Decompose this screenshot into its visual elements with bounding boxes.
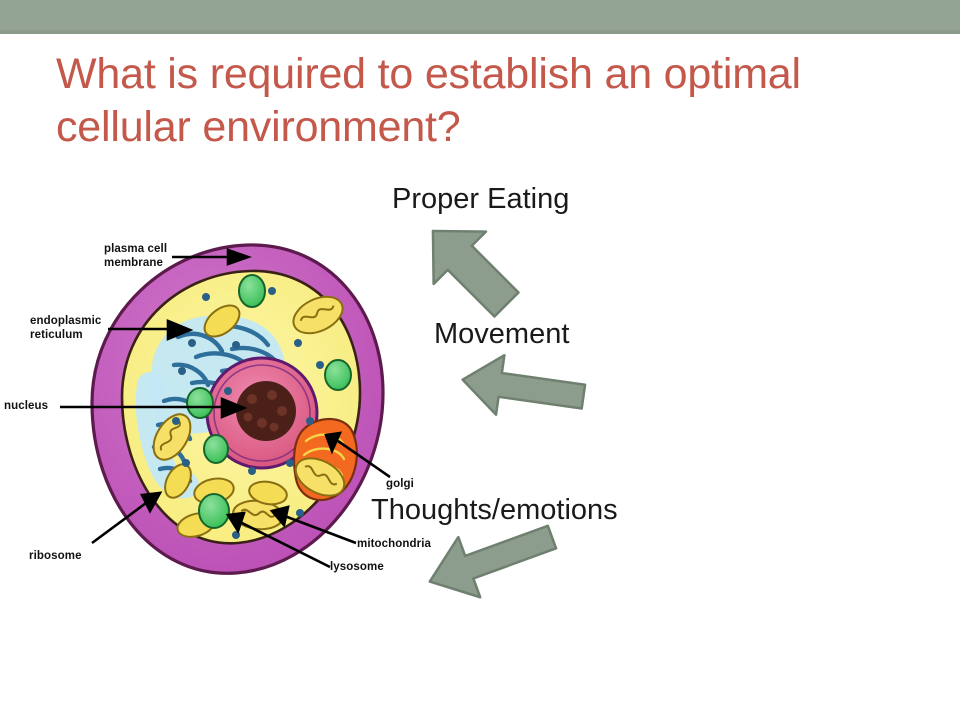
- arrow-up-left-icon: [414, 520, 564, 605]
- top-accent-bar: [0, 0, 960, 30]
- label-plasma-cell-membrane: plasma cell membrane: [104, 243, 167, 270]
- label-nucleus: nucleus: [4, 400, 48, 414]
- arrow-left-icon: [452, 352, 592, 429]
- nucleolus-shape: [236, 381, 296, 441]
- label-endoplasmic-reticulum: endoplasmic reticulum: [30, 315, 101, 342]
- cue-label-movement: Movement: [434, 318, 569, 351]
- top-accent-bar-edge: [0, 30, 960, 34]
- label-lysosome: lysosome: [330, 561, 384, 575]
- label-ribosome: ribosome: [29, 550, 82, 564]
- label-golgi: golgi: [386, 478, 414, 492]
- page-title: What is required to establish an optimal…: [56, 48, 926, 154]
- arrow-down-left-diagonal-icon: [404, 212, 534, 327]
- animal-cell-diagram: plasma cell membrane endoplasmic reticul…: [0, 225, 460, 600]
- slide-canvas: What is required to establish an optimal…: [0, 0, 960, 720]
